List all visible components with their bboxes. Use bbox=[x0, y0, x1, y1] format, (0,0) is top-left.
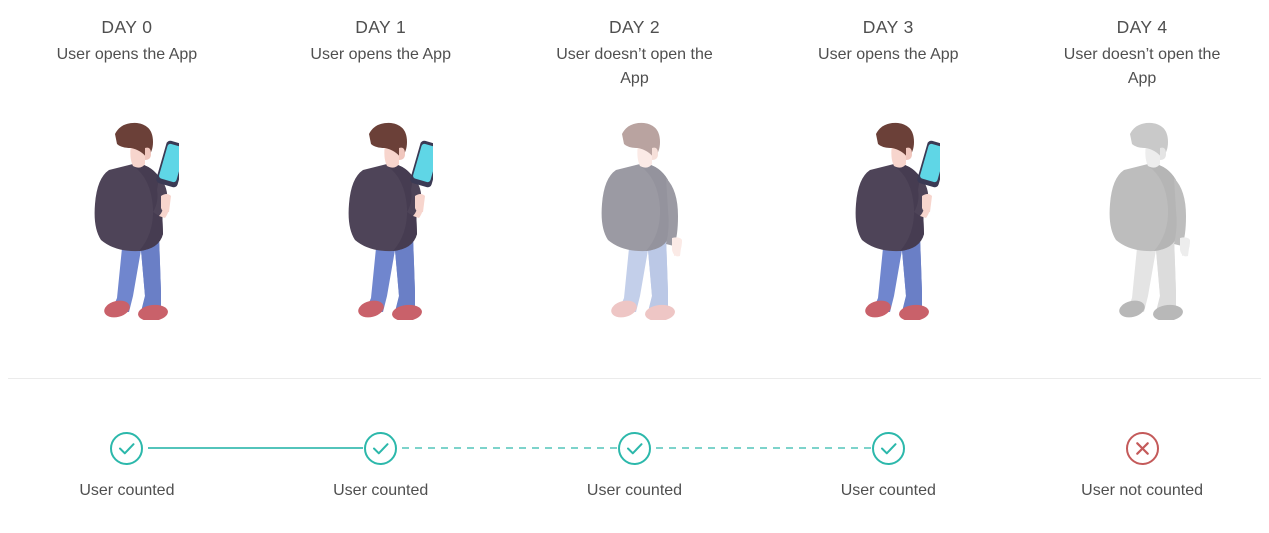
status-labels: User counted User counted User counted U… bbox=[0, 479, 1269, 503]
person-figure-day-0 bbox=[67, 120, 187, 335]
status-label-day-2: User counted bbox=[508, 479, 762, 503]
day-subtitle: User doesn’t open the App bbox=[547, 43, 722, 91]
day-title: DAY 3 bbox=[863, 16, 914, 38]
day-subtitle: User opens the App bbox=[57, 43, 198, 67]
person-with-phone-illustration bbox=[329, 120, 433, 320]
day-title: DAY 4 bbox=[1117, 16, 1168, 38]
person-figure-day-3 bbox=[828, 120, 948, 335]
day-title: DAY 0 bbox=[101, 16, 152, 38]
person-with-phone-illustration bbox=[836, 120, 940, 320]
person-no-phone-illustration bbox=[1090, 120, 1194, 320]
check-circle-icon bbox=[363, 431, 398, 466]
check-circle-icon bbox=[109, 431, 144, 466]
status-label-day-1: User counted bbox=[254, 479, 508, 503]
status-badge-day-0[interactable] bbox=[109, 431, 144, 466]
section-divider bbox=[8, 378, 1261, 379]
status-cell-day-2 bbox=[508, 430, 762, 466]
day-title: DAY 2 bbox=[609, 16, 660, 38]
status-track bbox=[0, 430, 1269, 466]
status-badges bbox=[0, 430, 1269, 466]
person-figure-day-2 bbox=[574, 120, 694, 335]
day-subtitle: User doesn’t open the App bbox=[1055, 43, 1230, 91]
status-badge-day-4[interactable] bbox=[1125, 431, 1160, 466]
check-circle-icon bbox=[871, 431, 906, 466]
person-no-phone-illustration bbox=[582, 120, 686, 320]
status-badge-day-1[interactable] bbox=[363, 431, 398, 466]
status-badge-day-2[interactable] bbox=[617, 431, 652, 466]
day-subtitle: User opens the App bbox=[310, 43, 451, 67]
person-figure-day-1 bbox=[321, 120, 441, 335]
check-circle-icon bbox=[617, 431, 652, 466]
person-with-phone-illustration bbox=[75, 120, 179, 320]
status-label-day-3: User counted bbox=[761, 479, 1015, 503]
status-label-day-0: User counted bbox=[0, 479, 254, 503]
status-label-day-4: User not counted bbox=[1015, 479, 1269, 503]
status-badge-day-3[interactable] bbox=[871, 431, 906, 466]
retention-timeline-infographic: DAY 0 User opens the App bbox=[0, 0, 1269, 533]
day-subtitle: User opens the App bbox=[818, 43, 959, 67]
day-title: DAY 1 bbox=[355, 16, 406, 38]
status-cell-day-3 bbox=[761, 430, 1015, 466]
status-cell-day-1 bbox=[254, 430, 508, 466]
status-cell-day-0 bbox=[0, 430, 254, 466]
x-circle-icon bbox=[1125, 431, 1160, 466]
person-figure-day-4 bbox=[1082, 120, 1202, 335]
status-cell-day-4 bbox=[1015, 430, 1269, 466]
